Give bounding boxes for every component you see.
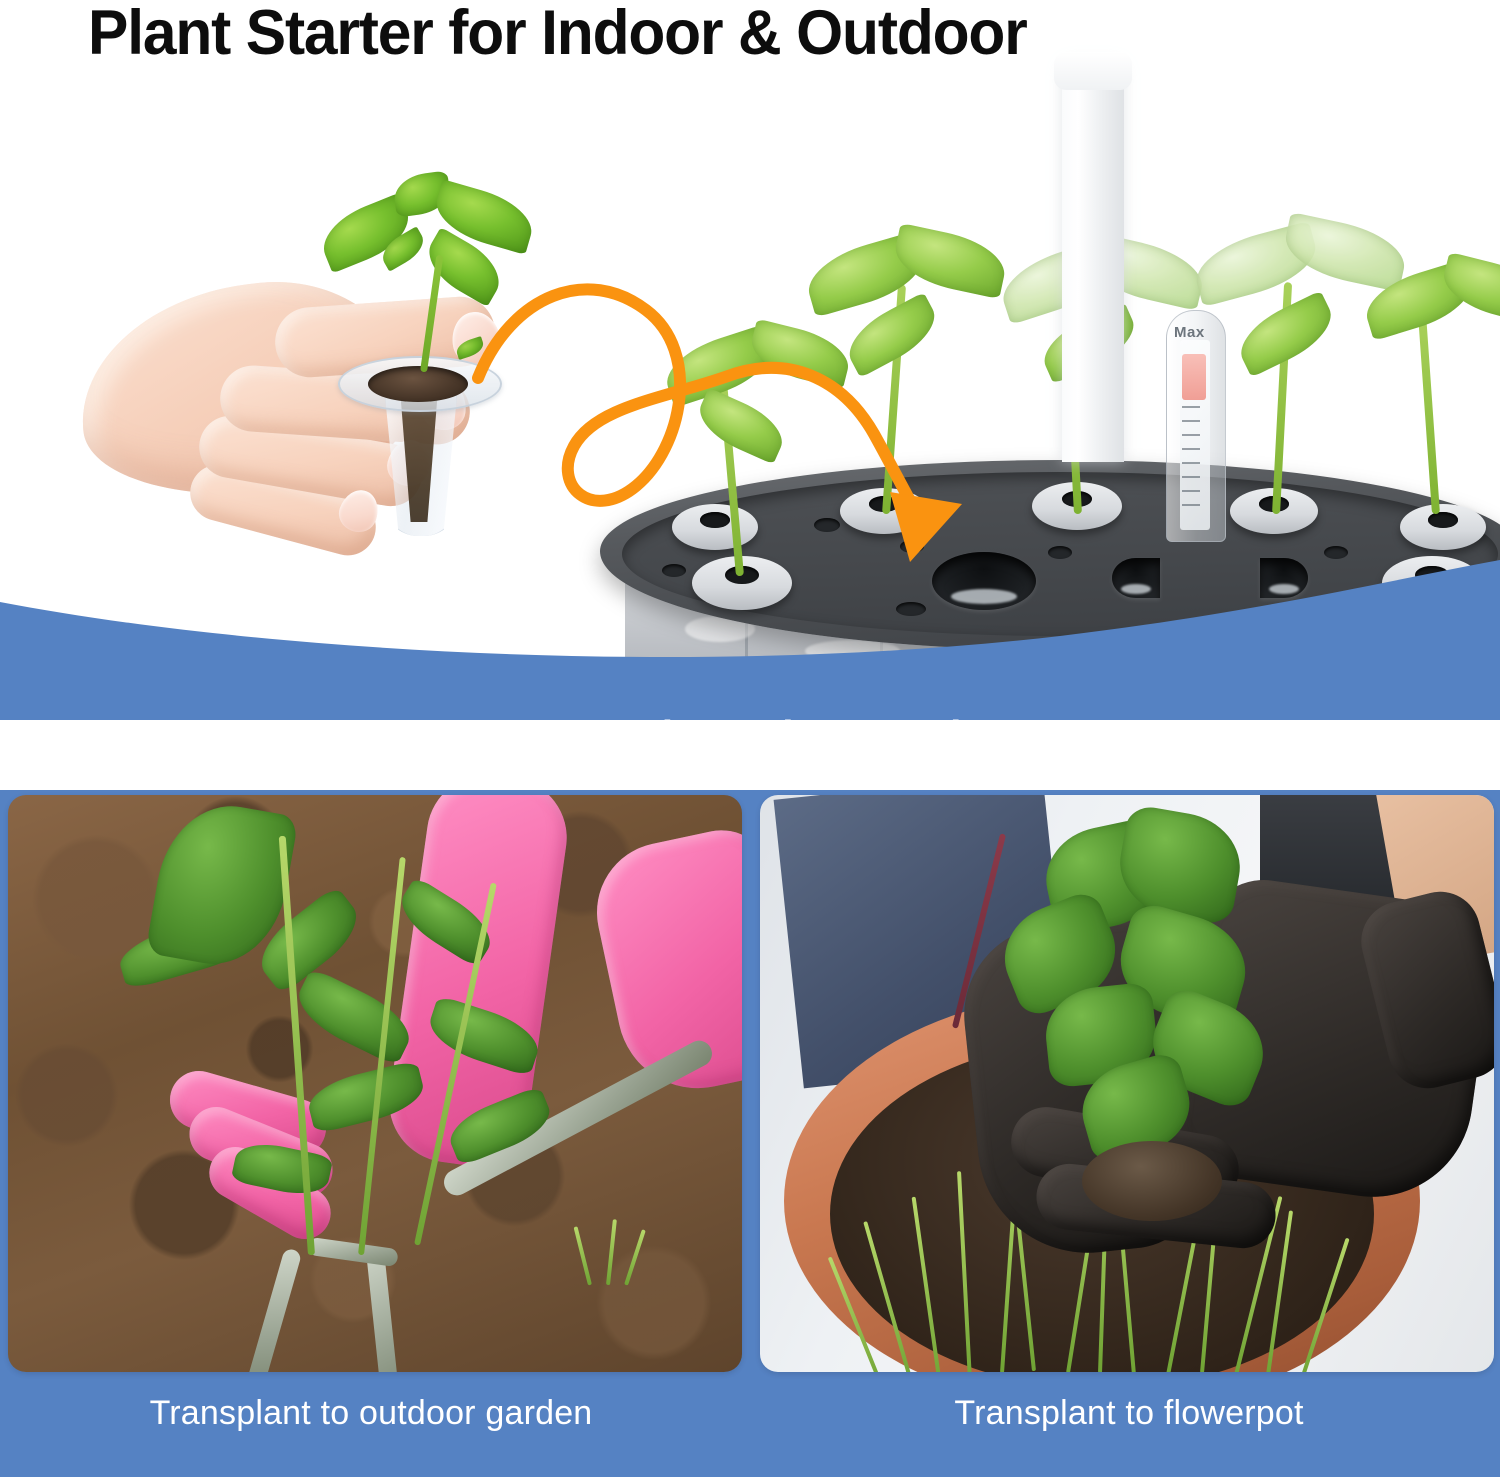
plant-stem: [1418, 314, 1440, 514]
grow-light-post: [1062, 62, 1124, 462]
grow-light-post-cap: [1054, 52, 1132, 90]
transparent-seed-pod: [338, 270, 498, 530]
water-level-meter: Max: [1166, 310, 1224, 540]
root-ball: [1082, 1141, 1222, 1221]
meter-float: [1182, 354, 1206, 400]
pod-cap: [672, 504, 758, 550]
plant-leaf: [691, 388, 791, 465]
caption-flowerpot: Transplant to flowerpot: [758, 1394, 1500, 1433]
deck-vent: [1324, 546, 1348, 559]
page-title: Plant Starter for Indoor & Outdoor: [88, 2, 1027, 65]
plant-leaf: [1280, 212, 1411, 292]
seedling-stem: [420, 255, 443, 373]
product-feature-graphic: Plant Starter for Indoor & Outdoor: [0, 0, 1500, 1477]
pod-soil: [368, 366, 468, 402]
banner-subtitle: Easy to Transplant When Seeds Sprout: [23, 712, 1478, 720]
caption-outdoor-garden: Transplant to outdoor garden: [0, 1394, 742, 1433]
seedling-leaf: [454, 336, 486, 360]
deck-vent: [1048, 546, 1072, 559]
deck-vent: [900, 540, 924, 553]
meter-max-label: Max: [1174, 324, 1205, 341]
hero-section: Plant Starter for Indoor & Outdoor: [0, 0, 1500, 720]
plant-leaf: [890, 223, 1011, 299]
pod-cap: [1400, 504, 1486, 550]
photo-transplant-outdoor-garden: [8, 795, 742, 1372]
deck-vent: [814, 518, 840, 532]
subtitle-banner: Easy to Transplant When Seeds Sprout: [0, 560, 1500, 720]
banner-curve: [0, 560, 1500, 720]
plant-leaf: [746, 319, 855, 390]
photo-transplant-flowerpot: [760, 795, 1494, 1372]
